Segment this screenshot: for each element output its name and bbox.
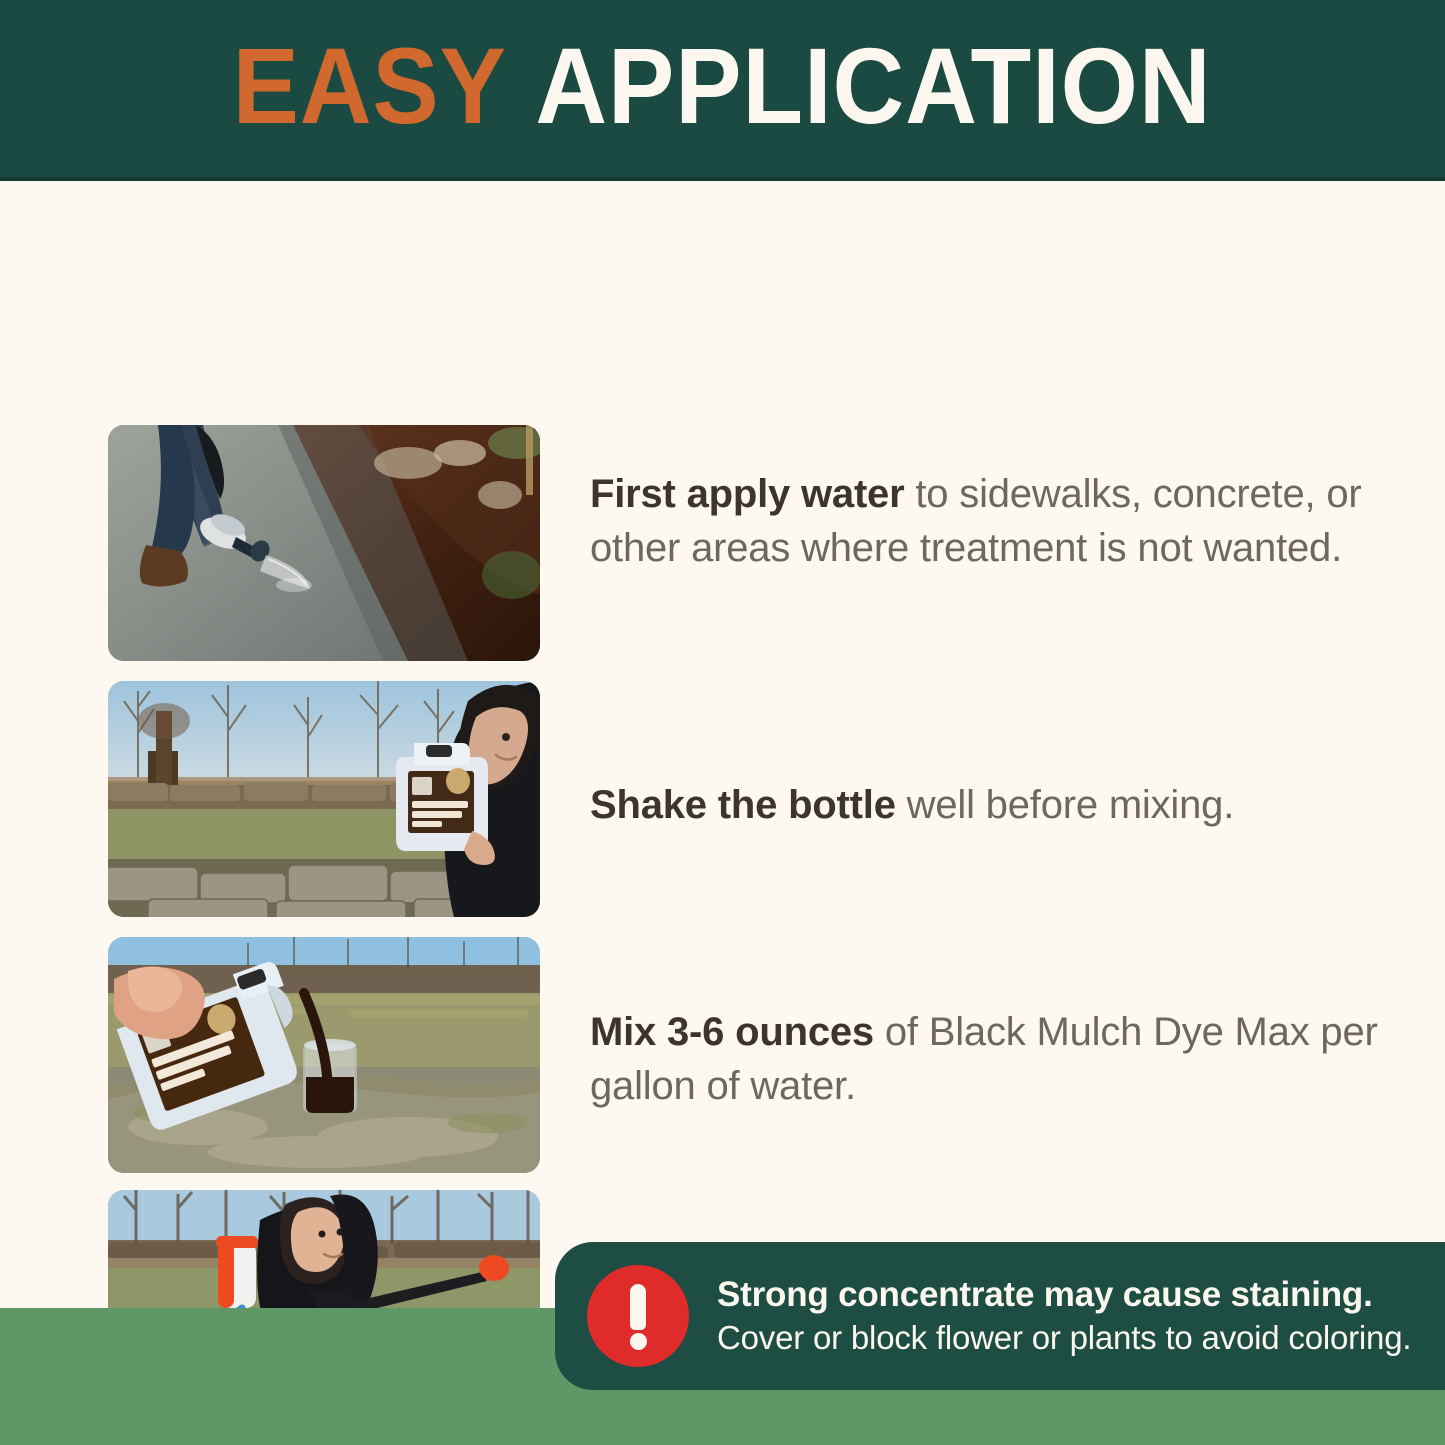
step-1-text: First apply water to sidewalks, concrete…: [590, 467, 1390, 575]
step-3-image: [108, 937, 540, 1173]
step-2-image: [108, 681, 540, 917]
step-2-bold: Shake the bottle: [590, 783, 896, 827]
page-title: EASY APPLICATION: [233, 32, 1212, 140]
warning-title: Strong concentrate may cause staining.: [717, 1274, 1411, 1317]
steps-container: First apply water to sidewalks, concrete…: [0, 185, 1445, 1308]
step-3-bold: Mix 3-6 ounces: [590, 1010, 874, 1054]
step-1-image: [108, 425, 540, 661]
header-bar: EASY APPLICATION: [0, 0, 1445, 181]
page-title-plain: APPLICATION: [536, 25, 1212, 146]
step-2-text: Shake the bottle well before mixing.: [590, 778, 1390, 832]
exclamation-stem: [630, 1284, 646, 1330]
warning-text-group: Strong concentrate may cause staining. C…: [717, 1274, 1411, 1358]
page-title-accent: EASY: [233, 25, 507, 146]
exclamation-dot: [630, 1333, 647, 1350]
step-2-rest: well before mixing.: [896, 783, 1234, 827]
step-1-bold: First apply water: [590, 472, 904, 516]
warning-banner: Strong concentrate may cause staining. C…: [555, 1242, 1445, 1390]
step-3-text: Mix 3-6 ounces of Black Mulch Dye Max pe…: [590, 1005, 1390, 1113]
warning-subtitle: Cover or block flower or plants to avoid…: [717, 1317, 1411, 1358]
exclamation-icon: [587, 1265, 689, 1367]
